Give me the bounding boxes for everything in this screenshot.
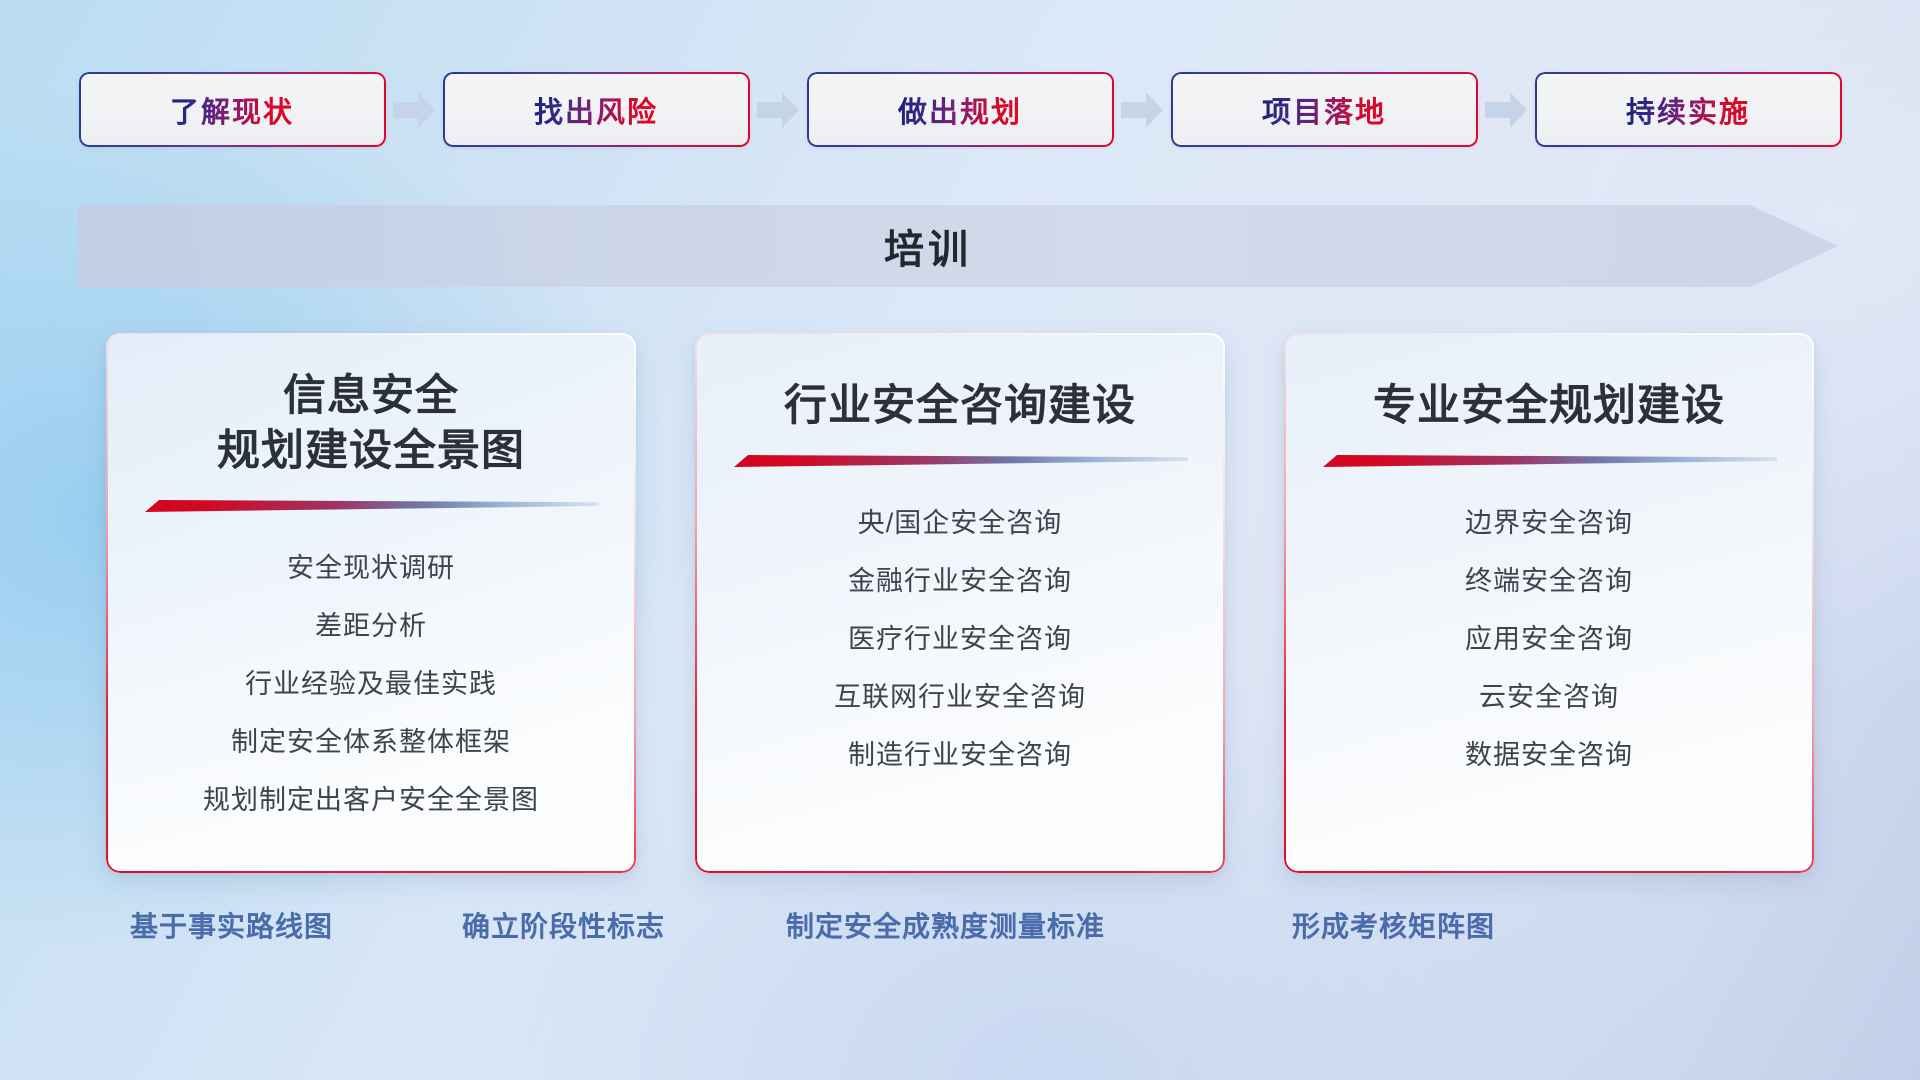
training-banner: 培训 xyxy=(78,205,1838,287)
card-title: 专业安全规划建设 xyxy=(1284,379,1814,434)
accent-divider xyxy=(143,497,599,513)
step-box-2[interactable]: 找出风险 xyxy=(443,72,750,147)
card-list-item: 制定安全体系整体框架 xyxy=(231,715,511,769)
card-1[interactable]: 信息安全 规划建设全景图 安全现状调研差距分析行业经验及最佳实践制定安全体系整体… xyxy=(106,333,636,873)
step-box-5[interactable]: 持续实施 xyxy=(1535,72,1842,147)
card-list-item: 制造行业安全咨询 xyxy=(848,728,1072,782)
card-list: 央/国企安全咨询金融行业安全咨询医疗行业安全咨询互联网行业安全咨询制造行业安全咨… xyxy=(695,496,1225,873)
accent-divider xyxy=(1321,452,1777,468)
step-box-1[interactable]: 了解现状 xyxy=(79,72,386,147)
step-label: 项目落地 xyxy=(1262,89,1386,131)
divider-wrap xyxy=(1284,452,1814,468)
card-list-item: 数据安全咨询 xyxy=(1465,728,1633,782)
card-list-item: 终端安全咨询 xyxy=(1465,554,1633,608)
card-3[interactable]: 专业安全规划建设 边界安全咨询终端安全咨询应用安全咨询云安全咨询数据安全咨询 xyxy=(1284,333,1814,873)
banner-title: 培训 xyxy=(78,205,1838,287)
footer-label-1: 基于事实路线图 xyxy=(130,905,333,945)
arrow-right-icon xyxy=(756,90,800,130)
footer-label-2: 确立阶段性标志 xyxy=(462,905,665,945)
card-2[interactable]: 行业安全咨询建设 央/国企安全咨询金融行业安全咨询医疗行业安全咨询互联网行业安全… xyxy=(695,333,1225,873)
card-list-item: 行业经验及最佳实践 xyxy=(245,657,497,711)
card-list-item: 边界安全咨询 xyxy=(1465,496,1633,550)
card-list-item: 规划制定出客户安全全景图 xyxy=(203,773,539,827)
card-list: 边界安全咨询终端安全咨询应用安全咨询云安全咨询数据安全咨询 xyxy=(1284,496,1814,873)
card-list-item: 互联网行业安全咨询 xyxy=(834,670,1086,724)
arrow-right-icon xyxy=(1120,90,1164,130)
footer-label-row: 基于事实路线图确立阶段性标志制定安全成熟度测量标准形成考核矩阵图 xyxy=(0,905,1920,965)
card-list-item: 应用安全咨询 xyxy=(1465,612,1633,666)
step-box-4[interactable]: 项目落地 xyxy=(1171,72,1478,147)
divider-wrap xyxy=(695,452,1225,468)
footer-label-3: 制定安全成熟度测量标准 xyxy=(786,905,1105,945)
card-row: 信息安全 规划建设全景图 安全现状调研差距分析行业经验及最佳实践制定安全体系整体… xyxy=(0,333,1920,873)
step-label: 做出规划 xyxy=(898,89,1022,131)
card-list-item: 央/国企安全咨询 xyxy=(858,496,1063,550)
card-list-item: 差距分析 xyxy=(315,599,427,653)
step-arrow-3 xyxy=(1114,72,1171,147)
arrow-right-icon xyxy=(1484,90,1528,130)
step-label: 了解现状 xyxy=(170,89,294,131)
card-title: 信息安全 规划建设全景图 xyxy=(106,369,636,479)
step-box-3[interactable]: 做出规划 xyxy=(807,72,1114,147)
card-list-item: 金融行业安全咨询 xyxy=(848,554,1072,608)
step-arrow-2 xyxy=(750,72,807,147)
process-step-row: 了解现状 找出风险 做出规划 项目落地 持续实施 xyxy=(0,72,1920,147)
divider-wrap xyxy=(106,497,636,513)
step-arrow-4 xyxy=(1478,72,1535,147)
card-list-item: 安全现状调研 xyxy=(287,541,455,595)
step-arrow-1 xyxy=(386,72,443,147)
card-list-item: 云安全咨询 xyxy=(1479,670,1619,724)
step-label: 持续实施 xyxy=(1626,89,1750,131)
step-label: 找出风险 xyxy=(534,89,658,131)
footer-label-4: 形成考核矩阵图 xyxy=(1292,905,1495,945)
accent-divider xyxy=(732,452,1188,468)
card-list-item: 医疗行业安全咨询 xyxy=(848,612,1072,666)
card-list: 安全现状调研差距分析行业经验及最佳实践制定安全体系整体框架规划制定出客户安全全景… xyxy=(106,541,636,873)
arrow-right-icon xyxy=(392,90,436,130)
card-title: 行业安全咨询建设 xyxy=(695,379,1225,434)
